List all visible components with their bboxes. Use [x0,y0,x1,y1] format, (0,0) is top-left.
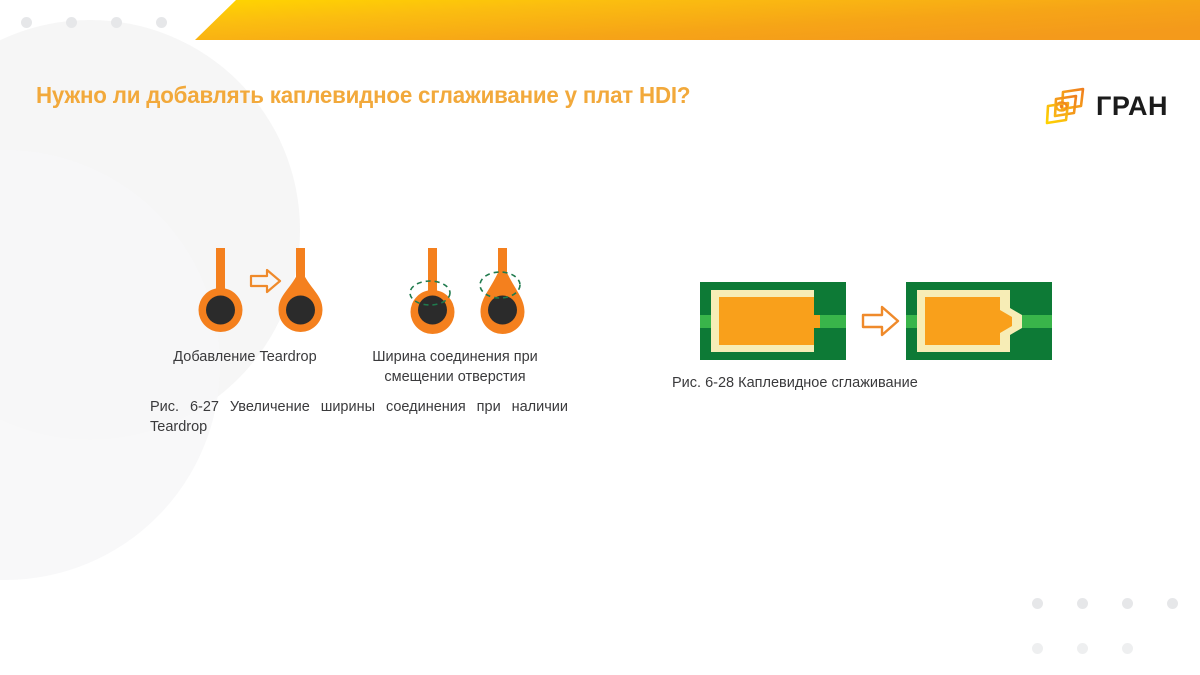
page-title: Нужно ли добавлять каплевидное сглаживан… [36,82,690,109]
decor-dot [1167,598,1178,609]
decor-dot [21,17,32,28]
pad-without-teardrop [199,248,243,332]
pad-offset-hole-without-teardrop [410,248,455,334]
figure-teardrop-comparison [150,248,570,349]
pcb-diagram-svg [700,282,1052,360]
transform-arrow-icon [251,270,280,292]
slide-root: Нужно ли добавлять каплевидное сглаживан… [0,0,1200,675]
pcb-pad-teardrop [906,282,1052,360]
decor-dot [66,17,77,28]
figure-pcb-teardrop [700,282,1052,365]
pad-with-teardrop [279,248,323,332]
decor-dot [156,17,167,28]
brand-logo: ГРАН [1043,86,1168,126]
label-add-teardrop: Добавление Teardrop [150,348,340,387]
decor-dot [1122,643,1133,654]
transform-arrow-icon [863,307,898,335]
label-connection-width: Ширина соединения при смещении отверстия [340,348,570,387]
decor-dot [1122,598,1133,609]
pcb-pad-square [700,282,846,360]
decor-dot [1032,643,1043,654]
teardrop-diagram-svg [150,248,570,344]
gran-mark-icon [1043,86,1087,126]
decor-dot [111,17,122,28]
caption-figure-6-28: Рис. 6-28 Каплевидное сглаживание [672,374,1052,394]
decor-dot [1077,643,1088,654]
decor-dot [1077,598,1088,609]
brand-wordmark: ГРАН [1096,93,1168,120]
caption-figure-6-27: Рис. 6-27 Увеличение ширины соединения п… [150,398,568,437]
figure-left-labels: Добавление Teardrop Ширина соединения пр… [150,348,570,387]
header-gradient-band [0,0,1200,40]
pad-offset-hole-with-teardrop [480,248,525,334]
decor-dot [1032,598,1043,609]
